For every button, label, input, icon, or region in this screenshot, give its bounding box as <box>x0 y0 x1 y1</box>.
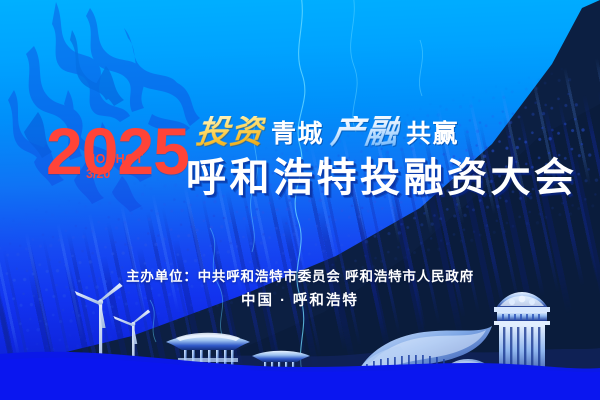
event-poster: 2025 HOHHOT 3/20 投资 青城 产融 共赢 呼和浩特投融资大会 主… <box>0 0 600 400</box>
event-date: 3/20 <box>86 167 144 182</box>
tagline-part-1: 投资 <box>194 116 266 150</box>
tagline-part-2: 青城 <box>271 121 324 150</box>
tagline: 投资 青城 产融 共赢 <box>196 116 459 150</box>
event-city-date: HOHHOT 3/20 <box>86 152 144 181</box>
page-title: 呼和浩特投融资大会 <box>186 156 578 200</box>
ground-band <box>0 338 600 400</box>
tagline-part-4: 共赢 <box>406 121 459 150</box>
tagline-part-3: 产融 <box>329 116 401 150</box>
event-city-code: HOHHOT <box>86 152 144 167</box>
